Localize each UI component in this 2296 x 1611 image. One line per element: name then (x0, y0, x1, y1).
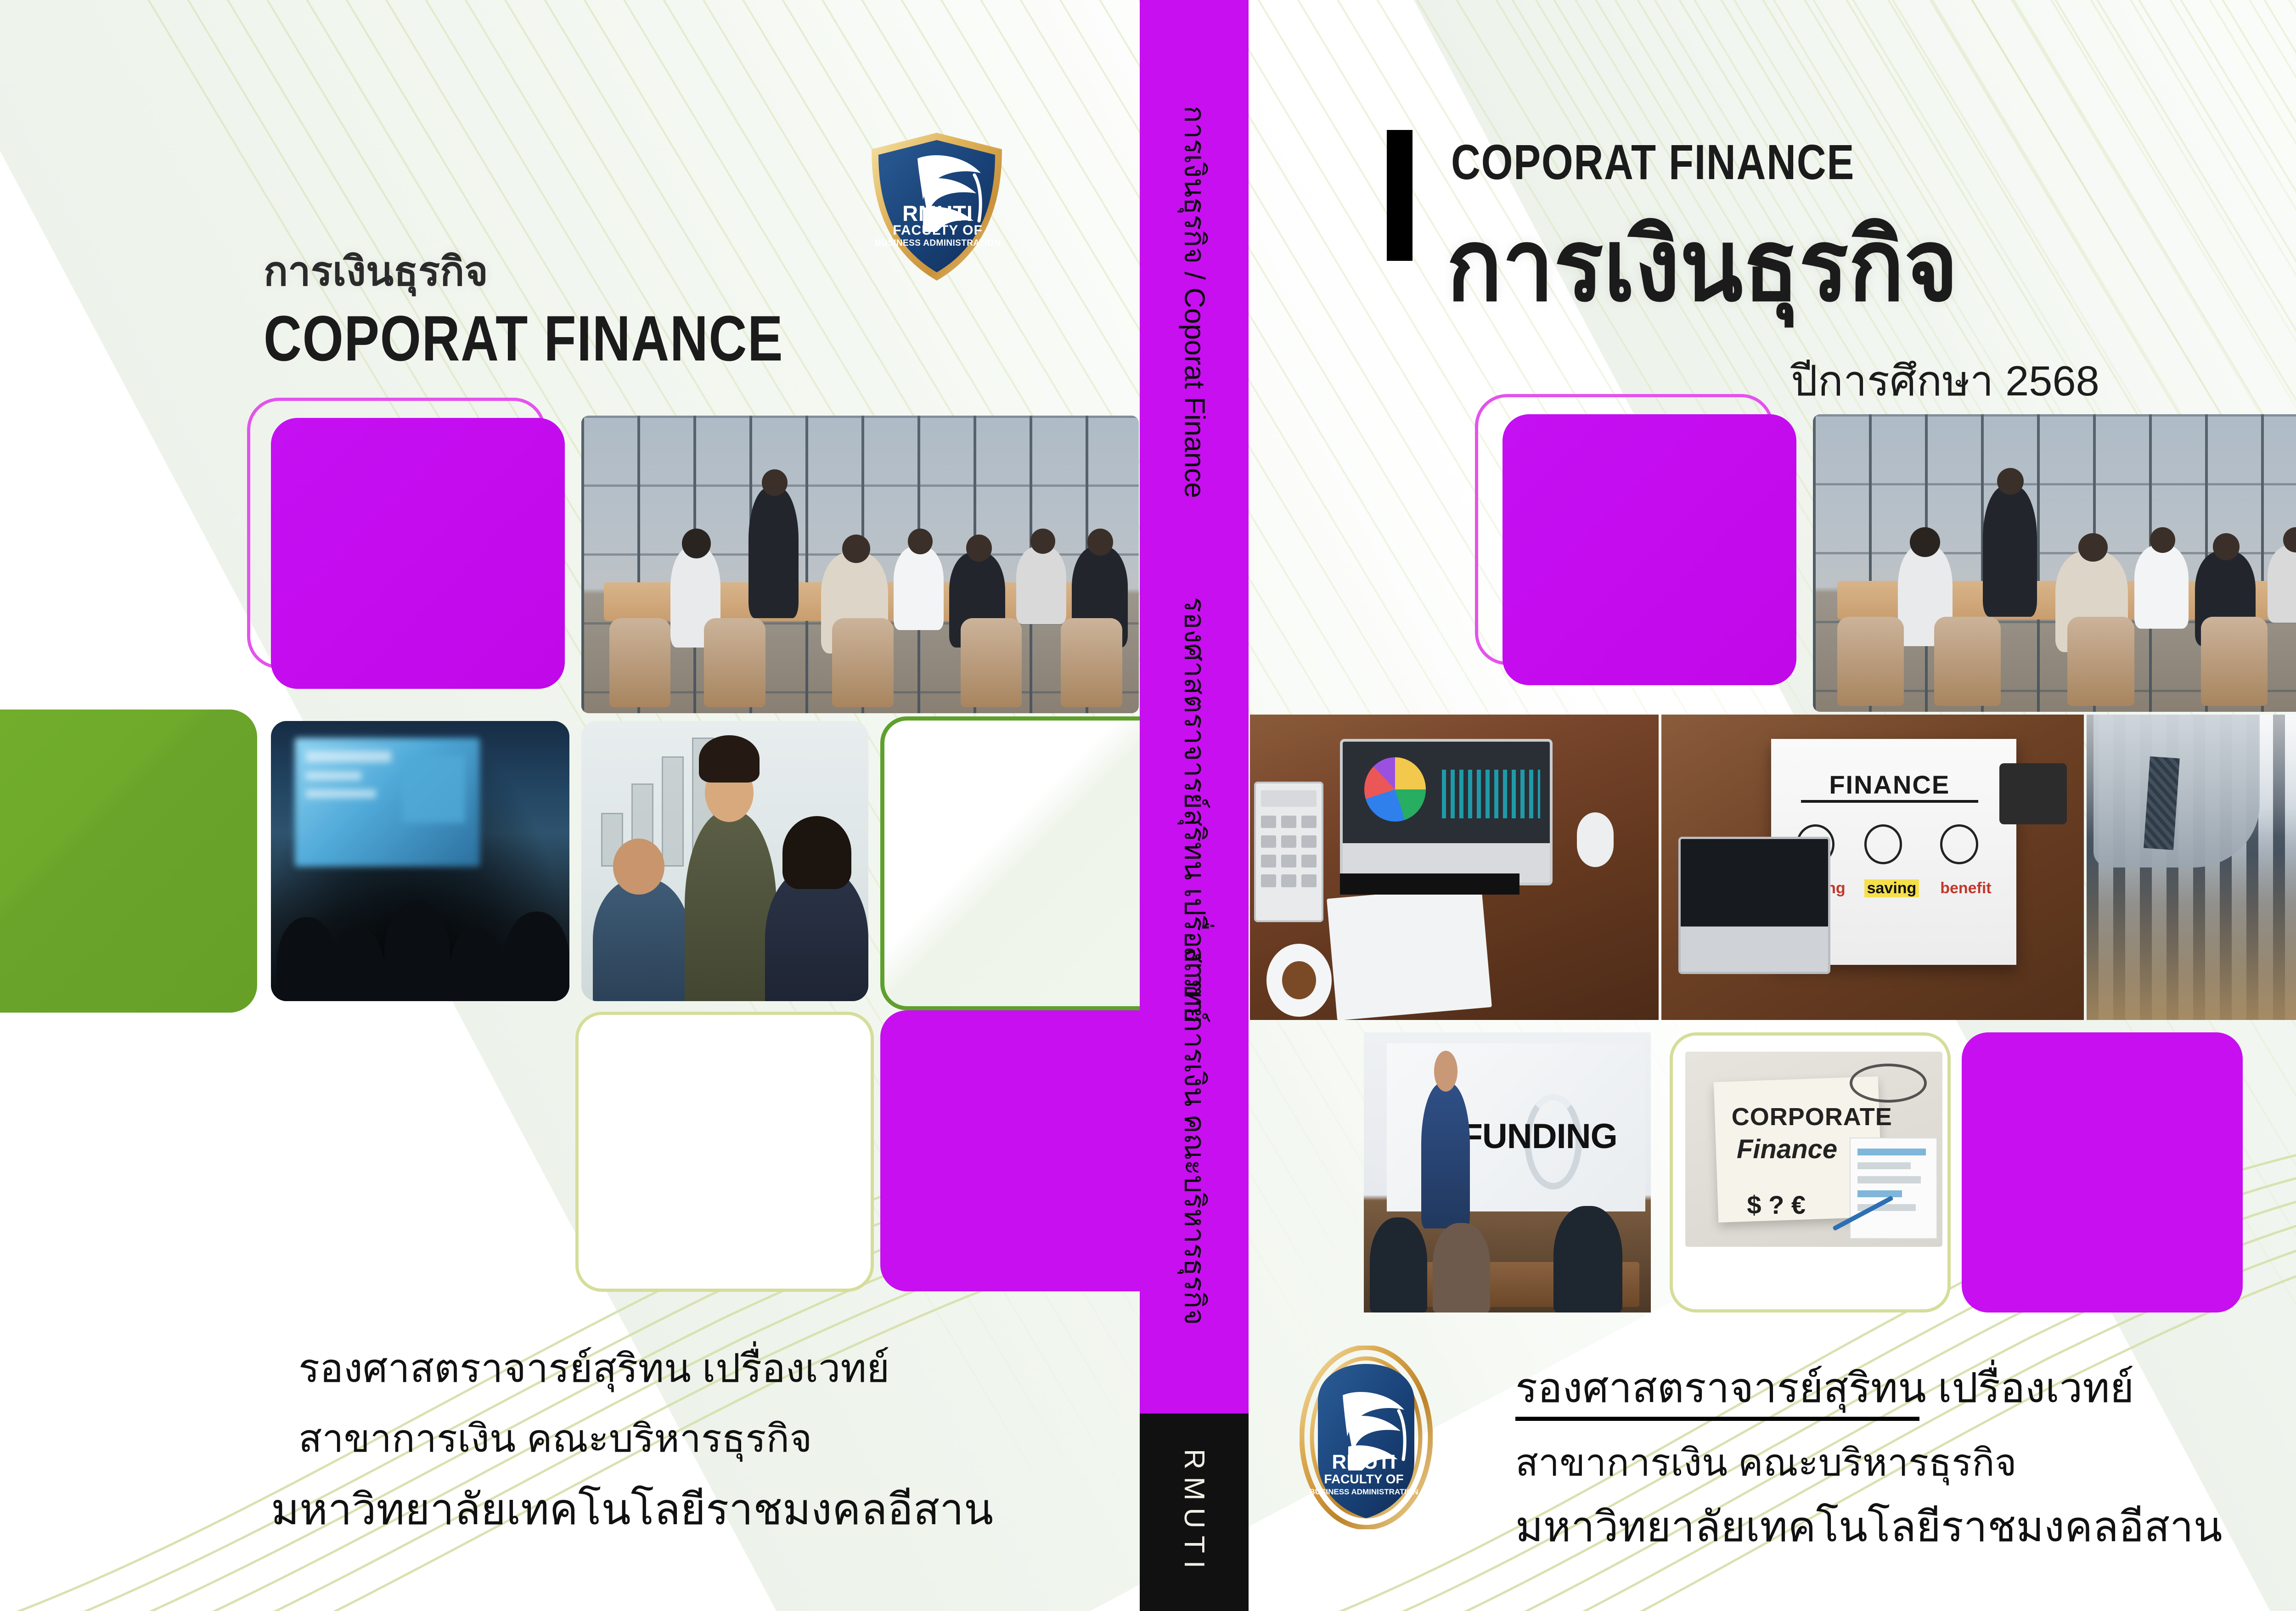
back-accent-magenta-rect-1 (271, 418, 565, 689)
back-author-name: รองศาสตราจารย์สุริทน เปรื่องเวทย์ (298, 1336, 889, 1399)
front-photo-boardroom (1813, 414, 2296, 712)
svg-text:BUSINESS ADMINISTRATION: BUSINESS ADMINISTRATION (1309, 1487, 1418, 1496)
back-photo-boardroom (581, 416, 1139, 713)
front-photo-finance-sketch: FINANCE funding saving benefit (1661, 715, 2084, 1020)
book-cover-spread: RMUTI FACULTY OF BUSINESS ADMINISTRATION… (0, 0, 2296, 1611)
front-author-department: สาขาการเงิน คณะบริหารธุรกิจ (1515, 1433, 2017, 1493)
book-spine: การเงินธุรกิจ / Coporat Finance รองศาสตร… (1140, 0, 1249, 1611)
spine-rmuti-block: RMUTI (1140, 1414, 1249, 1611)
front-author-university: มหาวิทยาลัยเทคโนโลยีราชมงคลอีสาน (1515, 1493, 2223, 1560)
back-author-university: มหาวิทยาลัยเทคโนโลยีราชมงคลอีสาน (271, 1475, 993, 1543)
back-accent-green-block (0, 710, 257, 1013)
front-photo-funding-presentation: FUNDING (1364, 1032, 1651, 1312)
back-cover-title-english: COPORAT FINANCE (264, 301, 783, 376)
svg-text:RMUTI: RMUTI (902, 201, 973, 225)
front-title-english: COPORAT FINANCE (1451, 133, 1855, 191)
front-photo-city-double-exposure (2087, 715, 2296, 1020)
back-photo-students-discussion (581, 721, 868, 1001)
back-author-department: สาขาการเงิน คณะบริหารธุรกิจ (298, 1407, 812, 1469)
svg-text:RMUTI: RMUTI (1332, 1451, 1396, 1473)
front-author-name: รองศาสตราจารย์สุริทน เปรื่องเวทย์ (1515, 1355, 2134, 1420)
front-photo-corporate-finance-note: CORPORATE Finance $ ? € (1685, 1052, 1942, 1247)
front-title-thai: การเงินธุรกิจ (1446, 186, 1958, 344)
rmuti-oval-logo-front: RMUTI FACULTY OF BUSINESS ADMINISTRATION (1300, 1346, 1433, 1529)
svg-text:FACULTY OF: FACULTY OF (1324, 1472, 1403, 1486)
spine-rmuti-label: RMUTI (1178, 1449, 1210, 1576)
front-accent-magenta-rect-1 (1503, 414, 1796, 685)
back-photo-lecture-audience (271, 721, 569, 1001)
svg-text:BUSINESS ADMINISTRATION: BUSINESS ADMINISTRATION (875, 238, 1001, 248)
svg-text:FACULTY OF: FACULTY OF (893, 223, 983, 238)
back-accent-outline-olive-rect (575, 1012, 874, 1292)
spine-title: การเงินธุรกิจ / Coporat Finance (1172, 106, 1217, 498)
front-title-bar (1387, 130, 1412, 261)
rmuti-shield-logo-back: RMUTI FACULTY OF BUSINESS ADMINISTRATION (868, 131, 1006, 282)
back-cover-kicker-thai: การเงินธุรกิจ (264, 239, 488, 303)
front-accent-magenta-rect-2 (1962, 1032, 2243, 1312)
spine-department: สาขาการเงิน คณะบริหารธุรกิจ (1172, 946, 1217, 1325)
front-academic-year: ปีการศึกษา 2568 (1791, 347, 2099, 414)
front-author-rule (1515, 1417, 1919, 1421)
front-photo-laptop-desk-charts (1250, 715, 1659, 1020)
